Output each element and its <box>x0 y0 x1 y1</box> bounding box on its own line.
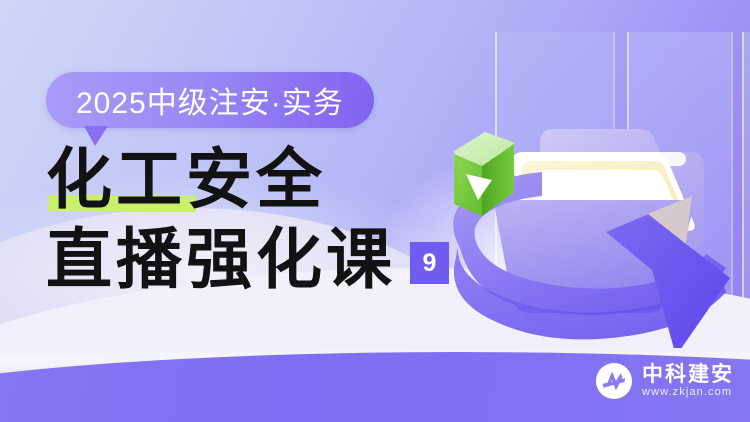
course-tag-label: 2025中级注安·实务 <box>46 72 374 128</box>
headline-block: 化工安全 直播强化课 9 <box>46 148 476 294</box>
course-tag-pointer <box>84 126 108 146</box>
course-poster: 2025中级注安·实务 化工安全 直播强化课 9 中科建安 www.zkjan.… <box>0 0 750 422</box>
brand-text: 中科建安 www.zkjan.com <box>642 364 734 398</box>
course-tag: 2025中级注安·实务 <box>46 72 374 128</box>
brand-name: 中科建安 <box>642 364 734 385</box>
headline-line-1: 化工安全 <box>46 148 326 214</box>
episode-badge: 9 <box>410 242 449 284</box>
headline-line-2: 直播强化课 <box>46 228 396 294</box>
brand-url: www.zkjan.com <box>642 387 734 398</box>
headline-line-1-row: 化工安全 <box>46 148 476 214</box>
headline-line-2-row: 直播强化课 9 <box>46 228 476 294</box>
brand-logo: 中科建安 www.zkjan.com <box>595 362 734 400</box>
zkjan-circle-logo-icon <box>595 362 633 400</box>
